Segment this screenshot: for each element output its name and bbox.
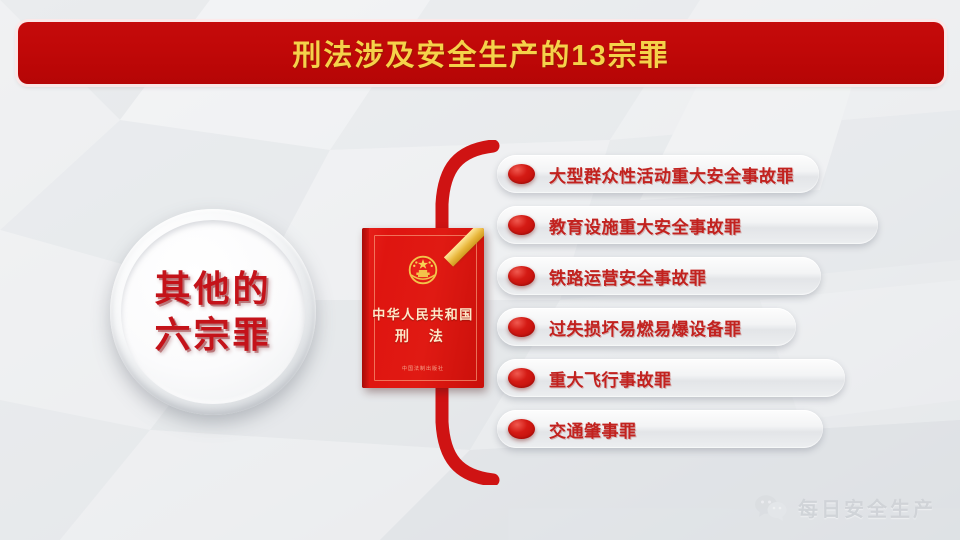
corner-badge-label: 最新 [473,229,482,235]
bullet-dot-icon [508,419,535,439]
crime-item[interactable]: 重大飞行事故罪 [497,359,845,397]
crime-item-label: 铁路运营安全事故罪 [549,264,707,289]
national-emblem-icon [403,250,443,290]
wechat-icon [754,494,788,522]
circle-label-line1: 其他的 [154,266,271,312]
criminal-law-book: 最新 中华人民共和国 刑 法 中国法制出版社 [362,228,484,388]
bullet-dot-icon [508,317,535,337]
other-six-crimes-circle: 其他的 六宗罪 [110,209,316,415]
bullet-dot-icon [508,368,535,388]
crime-item[interactable]: 大型群众性活动重大安全事故罪 [497,155,819,193]
crime-item[interactable]: 过失损坏易燃易爆设备罪 [497,308,796,346]
title-banner: 刑法涉及安全生产的13宗罪 [18,22,944,84]
crime-item[interactable]: 交通肇事罪 [497,410,823,448]
crime-item-label: 教育设施重大安全事故罪 [549,213,742,238]
crime-item-label: 过失损坏易燃易爆设备罪 [549,315,742,340]
book-title-law: 刑 法 [362,326,484,346]
crime-list: 大型群众性活动重大安全事故罪教育设施重大安全事故罪铁路运营安全事故罪过失损坏易燃… [497,155,878,461]
crime-item-label: 重大飞行事故罪 [549,366,672,391]
book-title-country: 中华人民共和国 [362,304,484,323]
bullet-dot-icon [508,215,535,235]
book-publisher: 中国法制出版社 [362,365,484,372]
watermark-label: 每日安全生产 [798,493,936,522]
crime-item-label: 大型群众性活动重大安全事故罪 [549,162,794,187]
page-title: 刑法涉及安全生产的13宗罪 [292,32,669,74]
wechat-watermark: 每日安全生产 [754,493,936,522]
bullet-dot-icon [508,164,535,184]
circle-label-line2: 六宗罪 [154,312,271,358]
circle-inner-face: 其他的 六宗罪 [121,220,305,404]
crime-item[interactable]: 教育设施重大安全事故罪 [497,206,878,244]
bullet-dot-icon [508,266,535,286]
crime-item[interactable]: 铁路运营安全事故罪 [497,257,821,295]
book-corner-ribbon: 最新 [444,228,484,268]
crime-item-label: 交通肇事罪 [549,417,637,442]
